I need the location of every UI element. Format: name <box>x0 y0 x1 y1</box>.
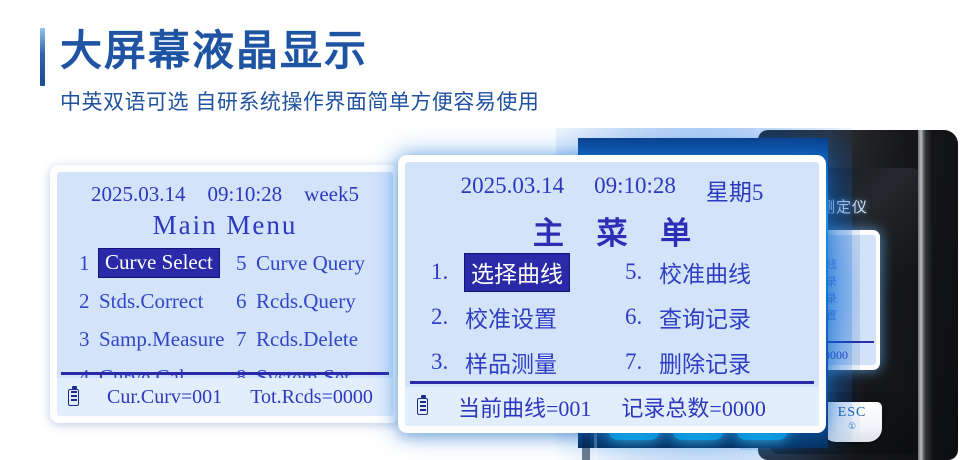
menu-item-label: Curve Select <box>99 249 219 277</box>
lcd-english-date: 2025.03.14 <box>91 182 186 207</box>
lcd-chinese-date: 2025.03.14 <box>461 173 565 207</box>
menu-item-label: 选择曲线 <box>465 254 569 291</box>
lcd-screen-chinese: 2025.03.14 09:10:28 星期5 主 菜 单 1. 选择曲线 5.… <box>398 155 826 433</box>
menu-item-query-records[interactable]: 6. 查询记录 <box>625 299 819 335</box>
lcd-english-weekday: week5 <box>304 182 359 207</box>
lcd-chinese-weekday: 星期5 <box>706 173 764 207</box>
menu-item-number: 2 <box>79 289 99 314</box>
menu-item-label: Rcds.Query <box>256 289 356 314</box>
lcd-english-surface: 2025.03.14 09:10:28 week5 Main Menu 1 Cu… <box>57 172 393 416</box>
lcd-chinese-title: 主 菜 单 <box>405 208 819 253</box>
menu-item-number: 1 <box>79 251 99 276</box>
lcd-english-time: 09:10:28 <box>208 182 283 207</box>
lcd-english-current-curve: Cur.Curv=001 <box>107 386 222 409</box>
menu-item-label: 样品测量 <box>465 345 557 379</box>
menu-item-rcds-delete[interactable]: 7 Rcds.Delete <box>236 324 393 354</box>
lcd-chinese-surface: 2025.03.14 09:10:28 星期5 主 菜 单 1. 选择曲线 5.… <box>405 162 819 426</box>
lcd-english-divider <box>61 372 389 375</box>
menu-item-number: 6. <box>625 304 659 330</box>
promo-banner: 大屏幕液晶显示 中英双语可选 自研系统操作界面简单方便容易使用 测定仪 线 录 … <box>0 0 980 460</box>
menu-item-number: 5 <box>236 251 256 276</box>
device-side-edge <box>918 130 927 460</box>
page-subtitle: 中英双语可选 自研系统操作界面简单方便容易使用 <box>60 86 539 116</box>
lcd-chinese-divider <box>410 381 814 384</box>
lcd-screen-english: 2025.03.14 09:10:28 week5 Main Menu 1 Cu… <box>50 165 400 423</box>
lcd-chinese-statusline: 2025.03.14 09:10:28 星期5 <box>405 173 819 207</box>
menu-item-label: 删除记录 <box>659 345 751 379</box>
device-side-edge-shadow <box>927 130 933 460</box>
menu-item-label: Curve Query <box>256 251 365 276</box>
page-title: 大屏幕液晶显示 <box>60 26 368 76</box>
menu-item-number: 7. <box>625 349 659 375</box>
menu-item-curve-query[interactable]: 5 Curve Query <box>236 248 393 278</box>
menu-item-select-curve[interactable]: 1. 选择曲线 <box>431 254 625 290</box>
menu-item-number: 5. <box>625 259 659 285</box>
menu-item-calibration-curve[interactable]: 5. 校准曲线 <box>625 254 819 290</box>
menu-item-delete-records[interactable]: 7. 删除记录 <box>625 344 819 380</box>
battery-icon <box>417 398 428 415</box>
menu-item-number: 1. <box>431 259 465 285</box>
menu-item-number: 7 <box>236 327 256 352</box>
menu-item-calibration-settings[interactable]: 2. 校准设置 <box>431 299 625 335</box>
battery-icon <box>68 389 79 406</box>
lcd-english-total-records: Tot.Rcds=0000 <box>250 386 373 409</box>
menu-item-rcds-query[interactable]: 6 Rcds.Query <box>236 286 393 316</box>
lcd-english-menu: 1 Curve Select 5 Curve Query 2 Stds.Corr… <box>57 248 393 392</box>
menu-item-label: 校准设置 <box>465 300 557 334</box>
menu-item-number: 3. <box>431 349 465 375</box>
lcd-english-statusline: 2025.03.14 09:10:28 week5 <box>57 182 393 207</box>
menu-item-stds-correct[interactable]: 2 Stds.Correct <box>79 286 236 316</box>
lcd-english-footer: Cur.Curv=001 Tot.Rcds=0000 <box>57 378 393 416</box>
headline-accent-bar <box>40 28 45 86</box>
menu-item-number: 2. <box>431 304 465 330</box>
menu-item-samp-measure[interactable]: 3 Samp.Measure <box>79 324 236 354</box>
menu-item-label: 校准曲线 <box>659 255 751 289</box>
menu-item-label: Samp.Measure <box>99 327 224 352</box>
lcd-chinese-time: 09:10:28 <box>594 173 676 207</box>
lcd-english-title: Main Menu <box>57 210 393 241</box>
menu-item-label: Stds.Correct <box>99 289 203 314</box>
menu-item-sample-measure[interactable]: 3. 样品测量 <box>431 344 625 380</box>
menu-item-number: 3 <box>79 327 99 352</box>
lcd-chinese-current-curve: 当前曲线=001 <box>458 391 591 423</box>
menu-item-label: 查询记录 <box>659 300 751 334</box>
lcd-chinese-footer: 当前曲线=001 记录总数=0000 <box>405 387 819 426</box>
menu-item-curve-select[interactable]: 1 Curve Select <box>79 248 236 278</box>
menu-item-number: 6 <box>236 289 256 314</box>
menu-item-label: Rcds.Delete <box>256 327 358 352</box>
lcd-chinese-total-records: 记录总数=0000 <box>621 391 765 423</box>
